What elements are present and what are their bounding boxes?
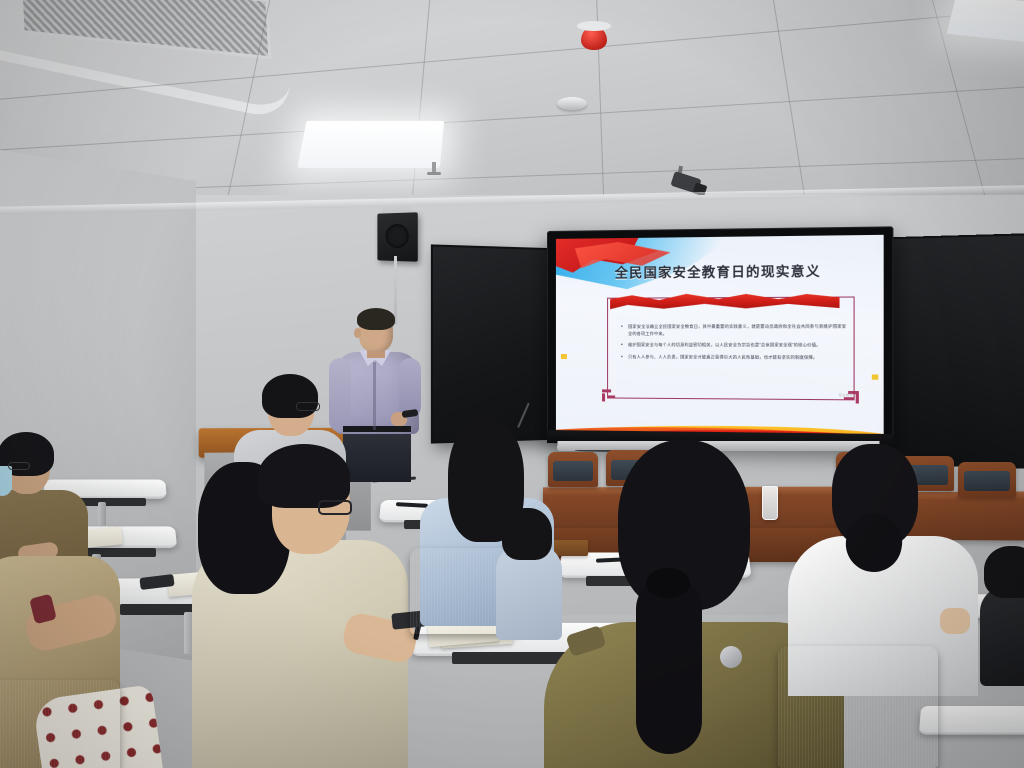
ceiling-grid-line: [773, 0, 808, 215]
glasses: [318, 500, 352, 515]
presenter-shirt-placket: [373, 362, 376, 430]
attendee-body: [980, 586, 1024, 686]
classroom-photo: 全民国家安全教育日的现实意义 • 国家安全法确立全民国家安全教育日，其中最重要的…: [0, 0, 1024, 768]
office-chair[interactable]: [778, 646, 938, 768]
attendee-left-front: [192, 440, 432, 768]
coat-button: [720, 646, 742, 668]
slide-tag-right: [872, 374, 878, 379]
glasses: [296, 402, 320, 411]
attendee-hair-ponytail: [636, 576, 702, 754]
attendee-hair: [984, 546, 1024, 598]
bullet-marker: •: [621, 341, 625, 349]
bullet-marker: •: [621, 323, 625, 338]
slide-title: 全民国家安全教育日的现实意义: [556, 260, 884, 282]
glasses: [8, 462, 30, 470]
presenter-ear: [354, 328, 361, 338]
attendee-hair: [262, 374, 318, 418]
sprinkler-head-icon: [432, 162, 436, 174]
fire-alarm-icon: [581, 26, 607, 50]
smoke-detector-icon: [557, 97, 587, 110]
presenter-belt: [343, 426, 411, 432]
attendee-hair-top: [258, 444, 350, 508]
bullet-text: 国家安全法确立全民国家安全教育日，其中最重要的实践意义，就是要动员政府和全社会共…: [628, 323, 846, 338]
bullet-marker: •: [621, 353, 625, 361]
wall-display[interactable]: 全民国家安全教育日的现实意义 • 国家安全法确立全民国家安全教育日，其中最重要的…: [547, 226, 893, 447]
attendee-hair: [502, 508, 552, 560]
list-item: • 只有人人参与、人人负责，国家安全才能真正获得巨大的人民性基础，也才能有坚实的…: [621, 353, 846, 362]
bullet-text: 维护国家安全与每个人的切身利益密切相关，以人民安全为宗旨也是“总体国家安全观”的…: [628, 341, 821, 349]
office-chair[interactable]: [0, 680, 120, 768]
attendee-far-right: [980, 546, 1024, 676]
presenter-hair: [357, 308, 395, 330]
presentation-slide: 全民国家安全教育日的现实意义 • 国家安全法确立全民国家安全教育日，其中最重要的…: [556, 235, 884, 434]
ceiling-grid-line: [0, 87, 1024, 151]
slide-tag-left: [561, 354, 567, 359]
list-item: • 维护国家安全与每个人的切身利益密切相关，以人民安全为宗旨也是“总体国家安全观…: [621, 341, 846, 349]
desk-leg: [98, 502, 106, 526]
wall-speaker-icon: [377, 212, 417, 261]
attendee-hand: [940, 608, 970, 634]
bullet-text: 只有人人参与、人人负责，国家安全才能真正获得巨大的人民性基础，也才能有坚实的制度…: [628, 353, 817, 362]
face-mask: [0, 466, 12, 496]
led-panel-light: [947, 0, 1024, 46]
list-item: • 国家安全法确立全民国家安全教育日，其中最重要的实践意义，就是要动员政府和全社…: [621, 323, 846, 338]
hair-tie: [646, 568, 690, 598]
slide-wave-graphic: [556, 388, 884, 434]
display-screen[interactable]: 全民国家安全教育日的现实意义 • 国家安全法确立全民国家安全教育日，其中最重要的…: [556, 235, 884, 434]
attendee-partial-left: [508, 508, 564, 628]
slide-bullet-list: • 国家安全法确立全民国家安全教育日，其中最重要的实践意义，就是要动员政府和全社…: [621, 323, 846, 366]
led-panel-light: [297, 121, 444, 168]
